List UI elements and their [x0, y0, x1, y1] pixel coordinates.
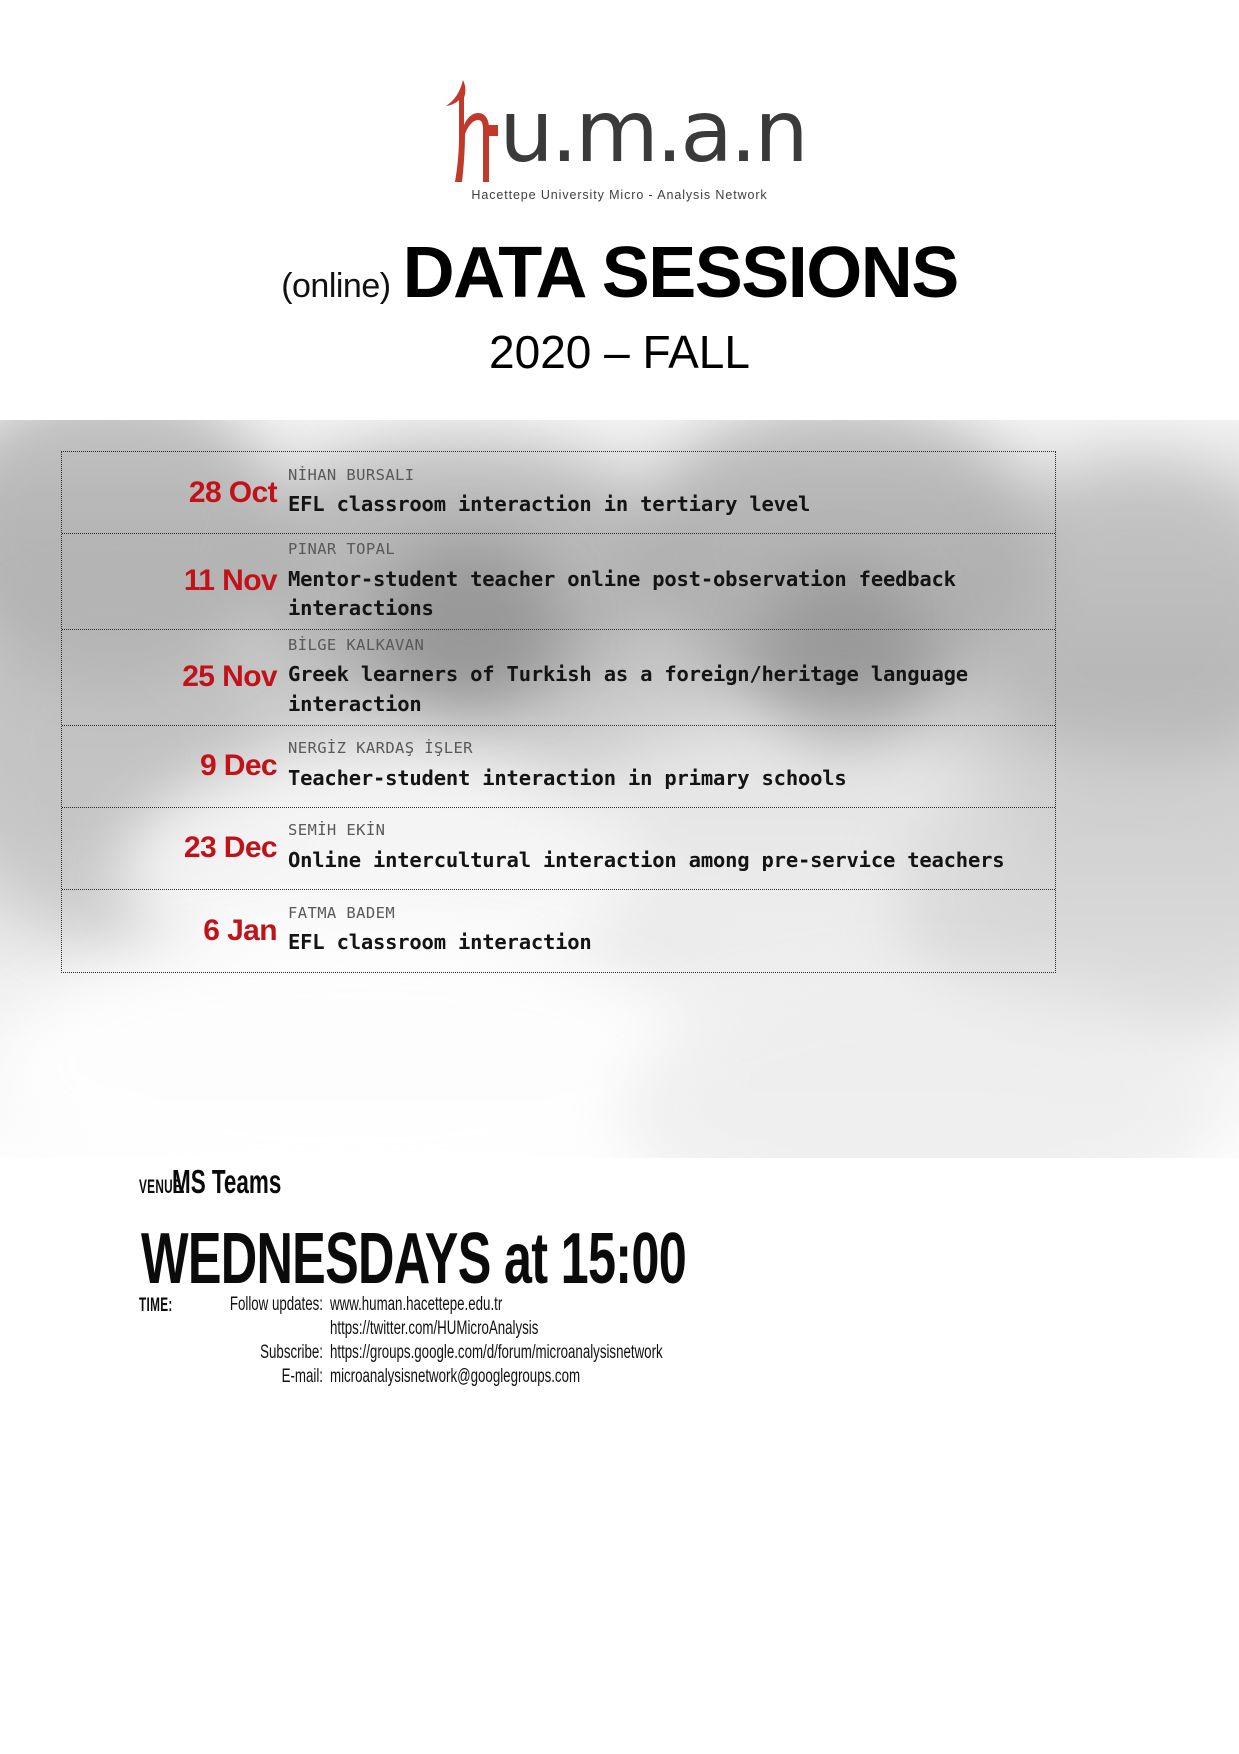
session-date: 23 Dec [62, 831, 288, 865]
table-row: 28 Oct NİHAN BURSALI EFL classroom inter… [62, 452, 1055, 534]
table-row: 6 Jan FATMA BADEM EFL classroom interact… [62, 890, 1055, 972]
session-topic: Teacher-student interaction in primary s… [288, 764, 1041, 793]
session-date: 25 Nov [62, 660, 288, 694]
session-topic: EFL classroom interaction [288, 928, 1041, 957]
session-body: BİLGE KALKAVAN Greek learners of Turkish… [288, 636, 1055, 719]
session-body: FATMA BADEM EFL classroom interaction [288, 904, 1055, 958]
contact-value-twitter[interactable]: https://twitter.com/HUMicroAnalysis [330, 1318, 538, 1340]
title-main-text: DATA SESSIONS [403, 233, 958, 313]
session-date: 28 Oct [62, 476, 288, 510]
session-speaker: NİHAN BURSALI [288, 466, 1041, 485]
session-speaker: SEMİH EKİN [288, 821, 1041, 840]
session-speaker: BİLGE KALKAVAN [288, 636, 1041, 655]
table-row: 11 Nov PINAR TOPAL Mentor-student teache… [62, 534, 1055, 630]
contact-block: Follow updates: www.human.hacettepe.edu.… [0, 1294, 1239, 1390]
title-online-prefix: (online) [281, 267, 390, 305]
poster-header: u.m.a.n Hacettepe University Micro - Ana… [0, 0, 1239, 420]
logo-h-icon [433, 78, 489, 186]
contact-row: https://twitter.com/HUMicroAnalysis [0, 1318, 1239, 1340]
session-body: SEMİH EKİN Online intercultural interact… [288, 821, 1055, 875]
contact-row: Follow updates: www.human.hacettepe.edu.… [0, 1294, 1239, 1316]
contact-row: E-mail: microanalysisnetwork@googlegroup… [0, 1366, 1239, 1388]
table-row: 25 Nov BİLGE KALKAVAN Greek learners of … [62, 630, 1055, 726]
contact-label: Follow updates: [99, 1294, 330, 1316]
time-value: WEDNESDAYS at 15:00 [141, 1218, 686, 1300]
session-topic: EFL classroom interaction in tertiary le… [288, 490, 1041, 519]
contact-label: E-mail: [99, 1366, 330, 1388]
contact-value-email[interactable]: microanalysisnetwork@googlegroups.com [330, 1366, 580, 1388]
session-speaker: PINAR TOPAL [288, 540, 1041, 559]
session-topic: Online intercultural interaction among p… [288, 846, 1041, 875]
session-topic: Mentor-student teacher online post-obser… [288, 565, 1041, 623]
logo-lockup: u.m.a.n [433, 78, 806, 186]
logo-red-dot [487, 125, 498, 136]
poster-subtitle: 2020 – FALL [0, 325, 1239, 379]
time-line: TIME:WEDNESDAYS at 15:00 [139, 1218, 920, 1300]
session-body: PINAR TOPAL Mentor-student teacher onlin… [288, 540, 1055, 623]
brand-logo: u.m.a.n [0, 78, 1239, 186]
table-row: 23 Dec SEMİH EKİN Online intercultural i… [62, 808, 1055, 890]
session-date: 6 Jan [62, 914, 288, 948]
schedule-table: 28 Oct NİHAN BURSALI EFL classroom inter… [61, 451, 1056, 973]
brand-tagline: Hacettepe University Micro - Analysis Ne… [0, 188, 1239, 202]
logo-wordmark: u.m.a.n [499, 78, 806, 186]
contact-row: Subscribe: https://groups.google.com/d/f… [0, 1342, 1239, 1364]
contact-label: Subscribe: [99, 1342, 330, 1364]
session-body: NERGİZ KARDAŞ İŞLER Teacher-student inte… [288, 739, 1055, 793]
session-date: 9 Dec [62, 749, 288, 783]
session-speaker: FATMA BADEM [288, 904, 1041, 923]
venue-line: VENUE:MS Teams [139, 1163, 333, 1201]
venue-value: MS Teams [172, 1163, 281, 1201]
contact-value-group[interactable]: https://groups.google.com/d/forum/microa… [330, 1342, 663, 1364]
table-row: 9 Dec NERGİZ KARDAŞ İŞLER Teacher-studen… [62, 726, 1055, 808]
session-topic: Greek learners of Turkish as a foreign/h… [288, 660, 1041, 718]
session-date: 11 Nov [62, 564, 288, 598]
contact-value-website[interactable]: www.human.hacettepe.edu.tr [330, 1294, 502, 1316]
poster-title: (online)DATA SESSIONS [0, 232, 1239, 314]
session-speaker: NERGİZ KARDAŞ İŞLER [288, 739, 1041, 758]
session-body: NİHAN BURSALI EFL classroom interaction … [288, 466, 1055, 520]
